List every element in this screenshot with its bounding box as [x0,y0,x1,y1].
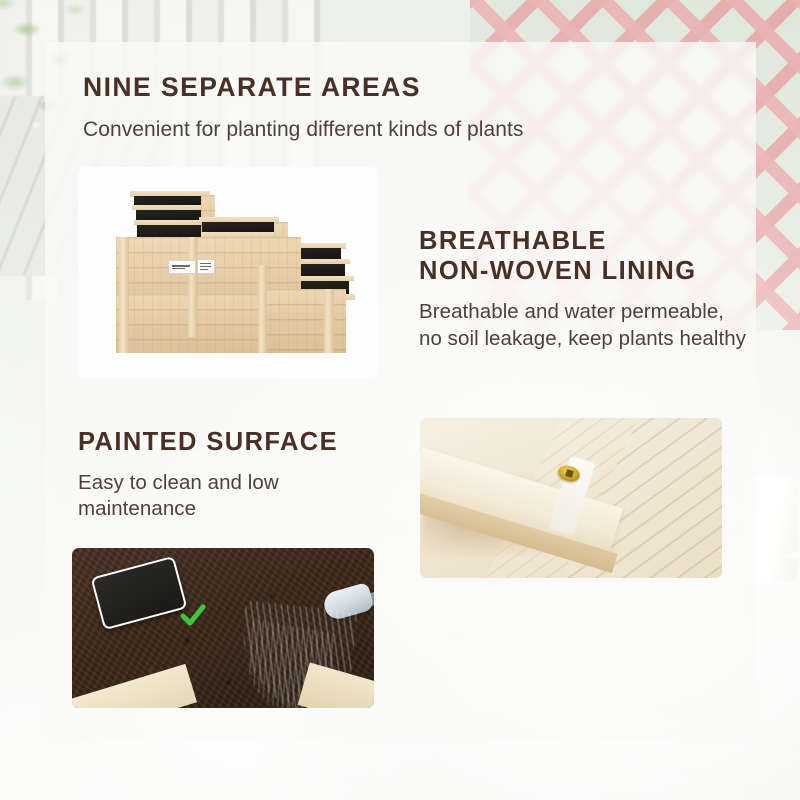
feature-heading-painted-surface: PAINTED SURFACE [78,428,388,458]
product-photo-backdrop [78,167,378,378]
feature-subtext-painted-surface: Easy to clean and low maintenance [78,470,388,523]
feature-block-breathable-non-woven-lining: BREATHABLE NON-WOVEN LINING Breathable a… [419,227,749,352]
bed-frame-right-edge [298,662,374,708]
bed-corner-post-left [119,237,129,353]
feature-block-painted-surface: PAINTED SURFACE Easy to clean and low ma… [78,428,388,523]
feature-subtext-breathable-non-woven-lining: Breathable and water permeable, no soil … [419,299,749,352]
bed-corner-post-mid [188,237,197,337]
check-icon [180,603,206,629]
product-brand-label [168,260,196,274]
bed-corner-post-right [324,289,334,353]
feature-block-nine-separate-areas: NINE SEPARATE AREAS Convenient for plant… [83,72,643,143]
bed-frame-left-edge [72,664,197,708]
black-liner-swatch [90,556,187,630]
feature-heading-breathable-line2: NON-WOVEN LINING [419,257,749,287]
product-barcode-label [197,259,215,274]
feature-heading-breathable-line1: BREATHABLE [419,227,749,257]
bed-corner-post-mid2 [258,265,267,353]
tiered-raised-garden-bed-photo [78,167,378,378]
feature-subtext-nine-separate-areas: Convenient for planting different kinds … [83,116,643,143]
board-corner-screw-fabric-photo [420,418,722,578]
infographic-canvas: NINE SEPARATE AREAS Convenient for plant… [0,0,800,800]
feature-heading-nine-separate-areas: NINE SEPARATE AREAS [83,72,643,103]
soil-liner-watering-photo [72,548,374,708]
